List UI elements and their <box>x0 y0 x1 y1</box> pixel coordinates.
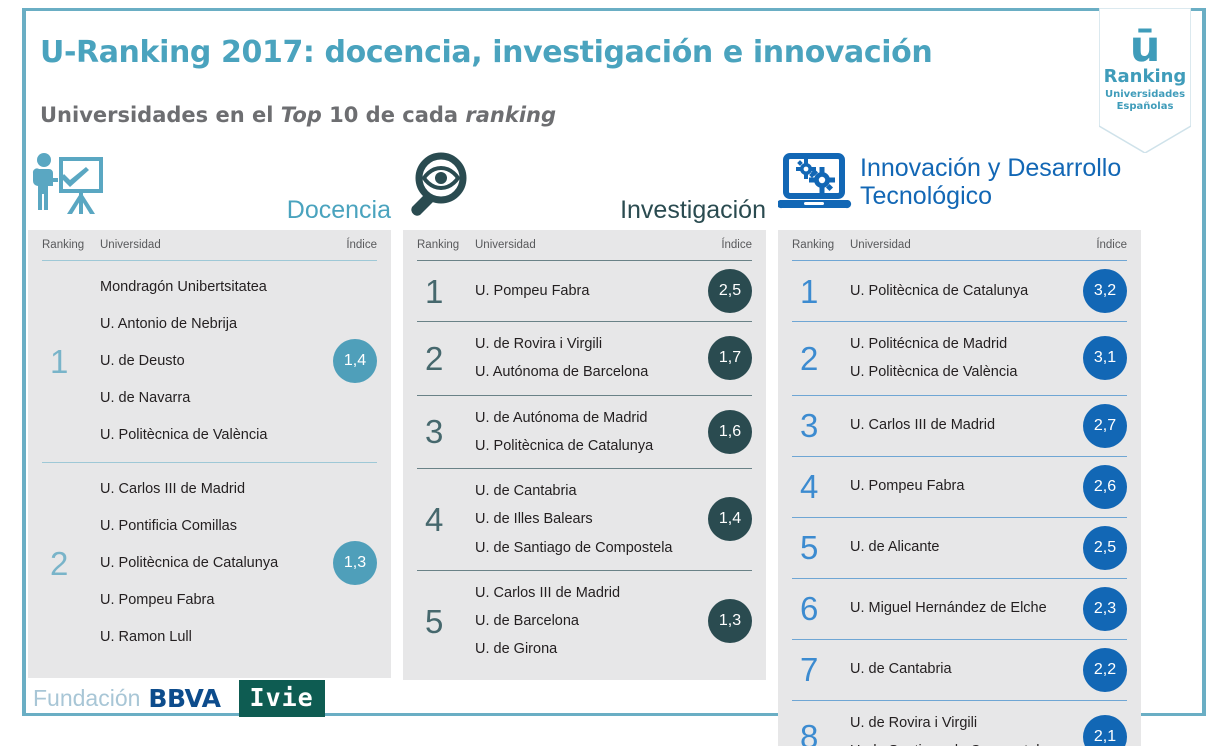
row-rank: 3 <box>792 409 850 442</box>
university-name: U. de Cantabria <box>850 655 1077 683</box>
page-subtitle: Universidades en el Top 10 de cada ranki… <box>40 103 556 127</box>
column-innovacion: Innovación y Desarrollo Tecnológico Rank… <box>778 152 1141 746</box>
column-header-investigacion: Investigación <box>403 152 766 230</box>
university-name: U. Pontificia Comillas <box>100 508 327 545</box>
column-title-investigacion: Investigación <box>620 196 766 224</box>
row-universities: U. de CantabriaU. de Illes BalearsU. de … <box>475 477 702 562</box>
frame-right-accent <box>1202 8 1206 716</box>
row-universities: U. Politècnica de Catalunya <box>850 277 1077 305</box>
index-badge: 1,3 <box>333 541 377 585</box>
university-name: U. Pompeu Fabra <box>100 582 327 619</box>
rows-docencia: 1Mondragón UnibertsitateaU. Antonio de N… <box>42 260 377 664</box>
university-name: U. de Rovira i Virgili <box>850 709 1077 737</box>
table-row: 8U. de Rovira i VirgiliU. de Santiago de… <box>792 700 1127 746</box>
row-rank: 2 <box>42 547 100 580</box>
university-name: U. de Illes Balears <box>475 505 702 533</box>
row-rank: 6 <box>792 592 850 625</box>
university-name: U. de Santiago de Compostela <box>475 534 702 562</box>
fundacion-bbva-prefix: Fundación <box>33 685 140 712</box>
bbva-logo: BBVA <box>148 684 220 713</box>
university-name: U. de Deusto <box>100 343 327 380</box>
logo-subtitle-line1: Universidades <box>1099 89 1191 101</box>
university-name: U. Politécnica de Madrid <box>850 330 1077 358</box>
magnifier-eye-icon <box>403 152 479 218</box>
footer-logos: Fundación BBVA Ivie <box>33 680 325 717</box>
university-name: U. Politècnica de Catalunya <box>100 545 327 582</box>
university-name: U. de Rovira i Virgili <box>475 330 702 358</box>
laptop-gears-icon <box>778 152 854 218</box>
column-header-innovacion: Innovación y Desarrollo Tecnológico <box>778 152 1141 230</box>
table-row: 2U. Carlos III de MadridU. Pontificia Co… <box>42 462 377 664</box>
table-row: 4U. de CantabriaU. de Illes BalearsU. de… <box>417 468 752 570</box>
row-rank: 8 <box>792 720 850 746</box>
panel-docencia: Ranking Universidad Índice 1Mondragón Un… <box>28 230 391 678</box>
column-title-docencia: Docencia <box>287 196 391 224</box>
row-rank: 1 <box>417 275 475 308</box>
panel-innovacion: Ranking Universidad Índice 1U. Politècni… <box>778 230 1141 746</box>
university-name: Mondragón Unibertsitatea <box>100 269 327 306</box>
header-universidad: Universidad <box>850 239 1096 251</box>
table-row: 4U. Pompeu Fabra2,6 <box>792 456 1127 517</box>
panel-investigacion: Ranking Universidad Índice 1U. Pompeu Fa… <box>403 230 766 680</box>
row-universities: Mondragón UnibertsitateaU. Antonio de Ne… <box>100 269 327 454</box>
table-header-investigacion: Ranking Universidad Índice <box>417 230 752 260</box>
table-row: 1Mondragón UnibertsitateaU. Antonio de N… <box>42 260 377 462</box>
ivie-logo: Ivie <box>239 680 325 717</box>
infographic-page: U-Ranking 2017: docencia, investigación … <box>0 0 1227 746</box>
index-badge: 2,5 <box>1083 526 1127 570</box>
table-row: 5U. Carlos III de MadridU. de BarcelonaU… <box>417 570 752 672</box>
header-indice: Índice <box>346 239 377 251</box>
university-name: U. Ramon Lull <box>100 619 327 656</box>
subtitle-part-top: Top <box>281 103 322 127</box>
row-universities: U. Miguel Hernández de Elche <box>850 594 1077 622</box>
table-row: 2U. de Rovira i VirgiliU. Autónoma de Ba… <box>417 321 752 395</box>
header-indice: Índice <box>721 239 752 251</box>
table-row: 1U. Politècnica de Catalunya3,2 <box>792 260 1127 321</box>
university-name: U. de Navarra <box>100 380 327 417</box>
row-rank: 5 <box>417 605 475 638</box>
index-badge: 2,1 <box>1083 715 1127 746</box>
university-name: U. de Santiago de Compostela <box>850 737 1077 746</box>
university-name: U. de Autónoma de Madrid <box>475 404 702 432</box>
university-name: U. Antonio de Nebrija <box>100 306 327 343</box>
row-universities: U. de Rovira i VirgiliU. Autónoma de Bar… <box>475 330 702 387</box>
index-badge: 2,5 <box>708 269 752 313</box>
row-rank: 1 <box>792 275 850 308</box>
table-row: 7U. de Cantabria2,2 <box>792 639 1127 700</box>
table-row: 3U. de Autónoma de MadridU. Politècnica … <box>417 395 752 469</box>
row-universities: U. Politécnica de MadridU. Politècnica d… <box>850 330 1077 387</box>
frame-top-accent <box>22 8 1206 11</box>
page-title: U-Ranking 2017: docencia, investigación … <box>40 35 932 70</box>
table-header-innovacion: Ranking Universidad Índice <box>792 230 1127 260</box>
university-name: U. Carlos III de Madrid <box>850 411 1077 439</box>
logo-subtitle-text: Universidades Españolas <box>1099 89 1191 112</box>
header-universidad: Universidad <box>100 239 346 251</box>
university-name: U. de Alicante <box>850 533 1077 561</box>
header-ranking: Ranking <box>417 239 475 251</box>
university-name: U. Politècnica de València <box>100 417 327 454</box>
university-name: U. de Barcelona <box>475 607 702 635</box>
u-logo-glyph: ū <box>1099 26 1191 69</box>
university-name: U. Politècnica de Catalunya <box>850 277 1077 305</box>
table-row: 5U. de Alicante2,5 <box>792 517 1127 578</box>
row-universities: U. de Autónoma de MadridU. Politècnica d… <box>475 404 702 461</box>
index-badge: 2,6 <box>1083 465 1127 509</box>
index-badge: 2,7 <box>1083 404 1127 448</box>
university-name: U. Autónoma de Barcelona <box>475 358 702 386</box>
row-rank: 4 <box>417 503 475 536</box>
index-badge: 2,2 <box>1083 648 1127 692</box>
header-universidad: Universidad <box>475 239 721 251</box>
row-universities: U. Pompeu Fabra <box>850 472 1077 500</box>
university-name: U. Carlos III de Madrid <box>100 471 327 508</box>
header-ranking: Ranking <box>42 239 100 251</box>
row-rank: 1 <box>42 345 100 378</box>
university-name: U. Pompeu Fabra <box>850 472 1077 500</box>
header-indice: Índice <box>1096 239 1127 251</box>
university-name: U. Miguel Hernández de Elche <box>850 594 1077 622</box>
index-badge: 3,1 <box>1083 336 1127 380</box>
row-rank: 4 <box>792 470 850 503</box>
subtitle-part-ranking: ranking <box>465 103 556 127</box>
index-badge: 2,3 <box>1083 587 1127 631</box>
rows-investigacion: 1U. Pompeu Fabra2,52U. de Rovira i Virgi… <box>417 260 752 672</box>
row-rank: 3 <box>417 415 475 448</box>
column-title-innovacion: Innovación y Desarrollo Tecnológico <box>860 154 1121 210</box>
subtitle-part-1: Universidades en el <box>40 103 281 127</box>
rows-innovacion: 1U. Politècnica de Catalunya3,22U. Polit… <box>792 260 1127 746</box>
logo-subtitle-line2: Españolas <box>1099 101 1191 113</box>
index-badge: 3,2 <box>1083 269 1127 313</box>
table-row: 2U. Politécnica de MadridU. Politècnica … <box>792 321 1127 395</box>
logo-ranking-text: Ranking <box>1099 68 1191 87</box>
university-name: U. Carlos III de Madrid <box>475 579 702 607</box>
table-row: 3U. Carlos III de Madrid2,7 <box>792 395 1127 456</box>
subtitle-part-3: 10 de cada <box>322 103 466 127</box>
row-universities: U. Carlos III de MadridU. Pontificia Com… <box>100 471 327 656</box>
university-name: U. Pompeu Fabra <box>475 277 702 305</box>
table-row: 6U. Miguel Hernández de Elche2,3 <box>792 578 1127 639</box>
index-badge: 1,3 <box>708 599 752 643</box>
university-name: U. de Girona <box>475 635 702 663</box>
university-name: U. de Cantabria <box>475 477 702 505</box>
row-universities: U. Pompeu Fabra <box>475 277 702 305</box>
row-rank: 5 <box>792 531 850 564</box>
row-rank: 2 <box>417 342 475 375</box>
table-row: 1U. Pompeu Fabra2,5 <box>417 260 752 321</box>
index-badge: 1,4 <box>333 339 377 383</box>
column-investigacion: Investigación Ranking Universidad Índice… <box>403 152 766 680</box>
column-docencia: Docencia Ranking Universidad Índice 1Mon… <box>28 152 391 678</box>
row-universities: U. de Cantabria <box>850 655 1077 683</box>
header-ranking: Ranking <box>792 239 850 251</box>
university-name: U. Politècnica de Catalunya <box>475 432 702 460</box>
row-universities: U. Carlos III de MadridU. de BarcelonaU.… <box>475 579 702 664</box>
index-badge: 1,6 <box>708 410 752 454</box>
teacher-board-icon <box>28 152 104 218</box>
row-rank: 2 <box>792 342 850 375</box>
row-rank: 7 <box>792 653 850 686</box>
row-universities: U. de Alicante <box>850 533 1077 561</box>
index-badge: 1,4 <box>708 497 752 541</box>
column-header-docencia: Docencia <box>28 152 391 230</box>
frame-left-accent <box>22 8 26 716</box>
row-universities: U. Carlos III de Madrid <box>850 411 1077 439</box>
table-header-docencia: Ranking Universidad Índice <box>42 230 377 260</box>
index-badge: 1,7 <box>708 336 752 380</box>
row-universities: U. de Rovira i VirgiliU. de Santiago de … <box>850 709 1077 746</box>
university-name: U. Politècnica de València <box>850 358 1077 386</box>
